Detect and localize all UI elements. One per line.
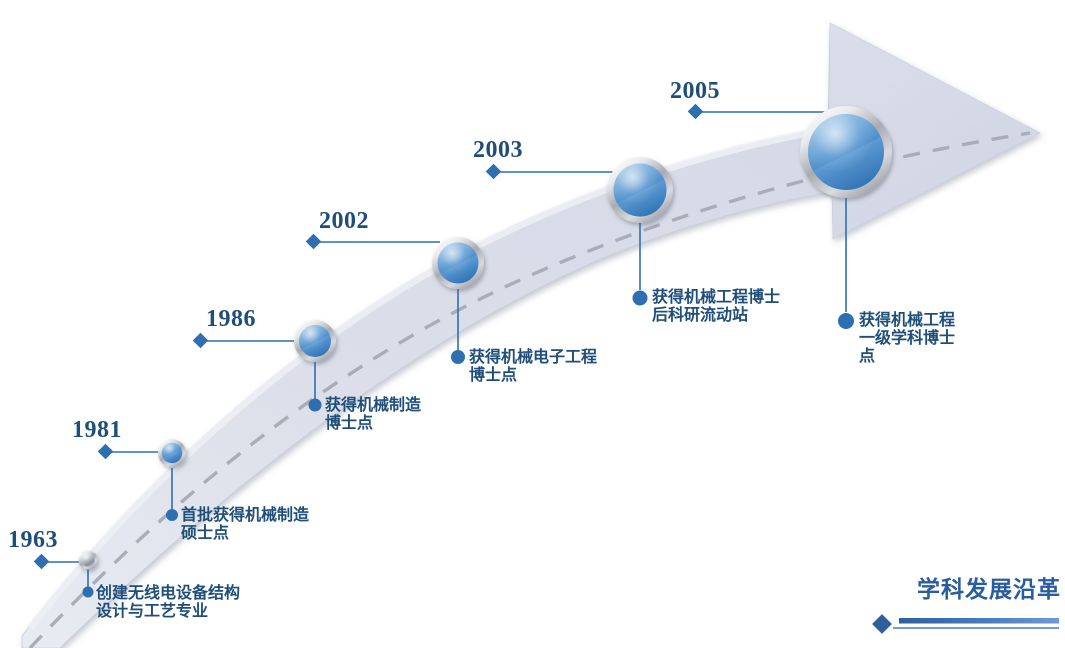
year-label-2002: 2002 [319, 209, 369, 233]
year-label-1981: 1981 [72, 418, 122, 442]
section-title: 学科发展沿革 [865, 578, 1061, 603]
milestone-node-2003[interactable] [607, 157, 673, 223]
milestone-node-1981[interactable] [158, 439, 186, 467]
milestone-desc-2002: 获得机械电子工程 博士点 [469, 348, 597, 384]
milestone-desc-2003: 获得机械工程博士 后科研流动站 [652, 288, 780, 324]
title-underline [872, 614, 1059, 634]
milestone-desc-1963: 创建无线电设备结构 设计与工艺专业 [96, 584, 240, 620]
year-label-1963: 1963 [8, 528, 58, 552]
slide-canvas: 1963 1981 1986 2002 2003 2005 创建无线电设备结构 … [0, 0, 1065, 648]
milestone-desc-1981: 首批获得机械制造 硕士点 [181, 506, 309, 542]
year-label-1986: 1986 [206, 307, 256, 331]
milestone-node-2002[interactable] [432, 237, 484, 289]
milestone-desc-1986: 获得机械制造 博士点 [325, 396, 421, 432]
section-title-block: 学科发展沿革 [865, 578, 1061, 603]
year-label-2005: 2005 [670, 79, 720, 103]
milestone-desc-2005: 获得机械工程 一级学科博士 点 [859, 311, 955, 365]
milestone-node-1963[interactable] [79, 551, 98, 570]
milestone-node-2005[interactable] [800, 106, 892, 198]
year-label-2003: 2003 [473, 138, 523, 162]
milestone-node-1986[interactable] [294, 320, 336, 362]
